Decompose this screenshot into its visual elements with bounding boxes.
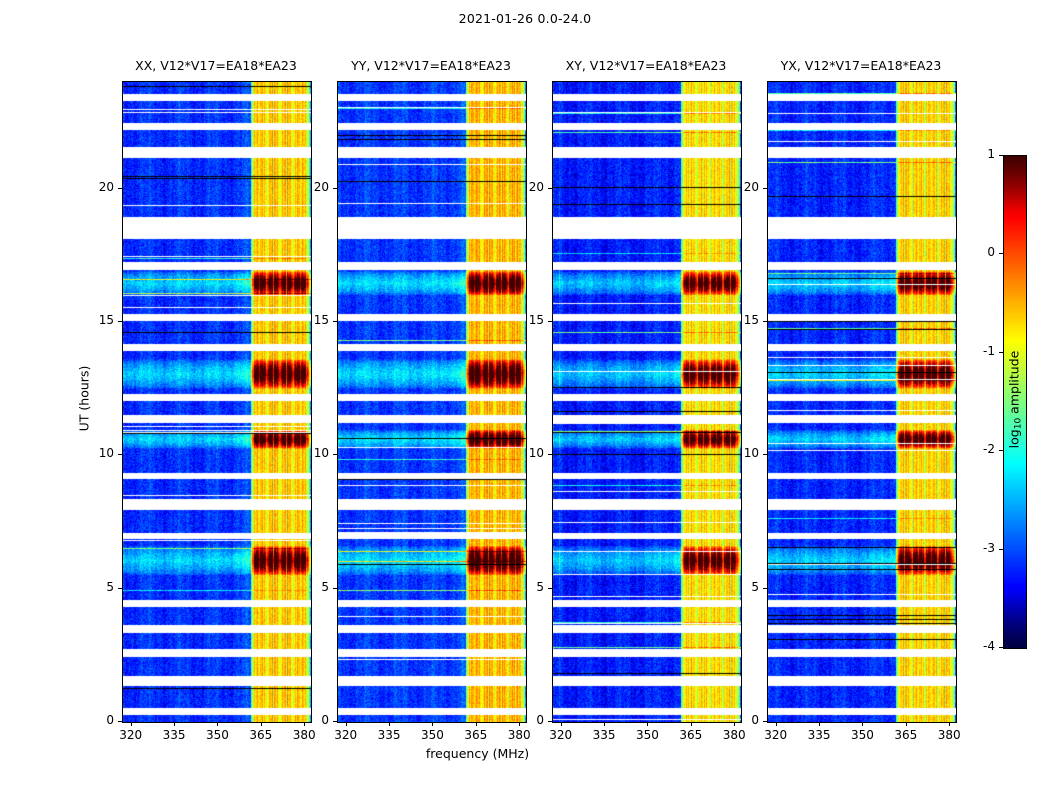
x-tickmark-xy-380 <box>734 722 735 726</box>
y-tick-label-xx-15: 15 <box>76 313 114 327</box>
y-tick-label-yx-5: 5 <box>721 580 759 594</box>
y-tickmark-xy-5 <box>548 588 552 589</box>
figure-canvas: 2021-01-26 0.0-24.0 XX, V12*V17=EA18*EA2… <box>0 0 1050 800</box>
x-tickmark-yx-380 <box>949 722 950 726</box>
y-tick-label-xy-10: 10 <box>506 446 544 460</box>
y-tick-label-yx-0: 0 <box>721 713 759 727</box>
y-tick-label-xy-20: 20 <box>506 180 544 194</box>
y-tick-label-yy-5: 5 <box>291 580 329 594</box>
x-tickmark-yy-380 <box>519 722 520 726</box>
y-tickmark-xx-5 <box>118 588 122 589</box>
y-tickmark-xy-20 <box>548 188 552 189</box>
x-tick-label-yy-380: 380 <box>497 728 541 742</box>
colorbar-tick-label-0: -4 <box>957 639 995 653</box>
colorbar-tickmark-3 <box>999 352 1003 353</box>
x-tick-label-xy-320: 320 <box>539 728 583 742</box>
y-tickmark-yx-5 <box>763 588 767 589</box>
x-tick-label-yx-380: 380 <box>927 728 971 742</box>
y-tickmark-yy-15 <box>333 321 337 322</box>
colorbar-tick-label-5: 1 <box>957 147 995 161</box>
x-tickmark-xx-380 <box>304 722 305 726</box>
x-tick-label-yx-365: 365 <box>884 728 928 742</box>
y-tick-label-xx-20: 20 <box>76 180 114 194</box>
y-tick-label-xx-10: 10 <box>76 446 114 460</box>
y-tickmark-xx-20 <box>118 188 122 189</box>
waterfall-image-yy <box>338 82 526 722</box>
y-axis-label: UT (hours) <box>77 349 92 449</box>
x-tick-label-xx-335: 335 <box>152 728 196 742</box>
y-tick-label-xy-5: 5 <box>506 580 544 594</box>
x-tickmark-xy-365 <box>691 722 692 726</box>
x-tick-label-xy-335: 335 <box>582 728 626 742</box>
x-tick-label-yy-365: 365 <box>454 728 498 742</box>
colorbar-tickmark-2 <box>999 450 1003 451</box>
x-tickmark-yy-350 <box>432 722 433 726</box>
y-tick-label-yx-15: 15 <box>721 313 759 327</box>
y-tickmark-xx-0 <box>118 721 122 722</box>
x-tickmark-xx-365 <box>261 722 262 726</box>
x-tickmark-xx-320 <box>131 722 132 726</box>
x-tickmark-yx-335 <box>819 722 820 726</box>
colorbar-tickmark-0 <box>999 647 1003 648</box>
y-tickmark-yx-15 <box>763 321 767 322</box>
waterfall-panel-yx[interactable] <box>767 81 957 723</box>
x-tick-label-yx-350: 350 <box>840 728 884 742</box>
y-tickmark-yx-10 <box>763 454 767 455</box>
x-tickmark-xy-350 <box>647 722 648 726</box>
waterfall-panel-yy[interactable] <box>337 81 527 723</box>
x-tickmark-yy-365 <box>476 722 477 726</box>
colorbar-tick-label-1: -3 <box>957 541 995 555</box>
y-tickmark-xy-15 <box>548 321 552 322</box>
x-tickmark-yx-365 <box>906 722 907 726</box>
x-tickmark-xy-335 <box>604 722 605 726</box>
x-axis-label: frequency (MHz) <box>0 746 955 761</box>
y-tickmark-yy-0 <box>333 721 337 722</box>
y-tickmark-xy-10 <box>548 454 552 455</box>
x-tick-label-yy-320: 320 <box>324 728 368 742</box>
waterfall-panel-xx[interactable] <box>122 81 312 723</box>
y-tick-label-yy-10: 10 <box>291 446 329 460</box>
panel-title-xy: XY, V12*V17=EA18*EA23 <box>552 58 740 73</box>
x-tick-label-xx-380: 380 <box>282 728 326 742</box>
y-tickmark-xy-0 <box>548 721 552 722</box>
x-tick-label-yx-320: 320 <box>754 728 798 742</box>
y-tick-label-yy-15: 15 <box>291 313 329 327</box>
panel-title-yy: YY, V12*V17=EA18*EA23 <box>337 58 525 73</box>
figure-suptitle: 2021-01-26 0.0-24.0 <box>0 11 1050 26</box>
colorbar-tickmark-4 <box>999 253 1003 254</box>
x-tick-label-xy-380: 380 <box>712 728 756 742</box>
x-tick-label-xy-350: 350 <box>625 728 669 742</box>
y-tickmark-yx-20 <box>763 188 767 189</box>
x-tickmark-yx-350 <box>862 722 863 726</box>
x-tickmark-xy-320 <box>561 722 562 726</box>
panel-title-xx: XX, V12*V17=EA18*EA23 <box>122 58 310 73</box>
y-tickmark-yy-10 <box>333 454 337 455</box>
y-tick-label-yy-0: 0 <box>291 713 329 727</box>
y-tick-label-yy-20: 20 <box>291 180 329 194</box>
colorbar-label: log10 amplitude <box>1007 339 1024 459</box>
x-tickmark-yy-320 <box>346 722 347 726</box>
x-tick-label-xx-365: 365 <box>239 728 283 742</box>
y-tick-label-yx-10: 10 <box>721 446 759 460</box>
x-tickmark-xx-350 <box>217 722 218 726</box>
y-tickmark-yy-20 <box>333 188 337 189</box>
waterfall-image-xx <box>123 82 311 722</box>
y-tick-label-xx-0: 0 <box>76 713 114 727</box>
panel-title-yx: YX, V12*V17=EA18*EA23 <box>767 58 955 73</box>
colorbar-tickmark-1 <box>999 549 1003 550</box>
y-tick-label-yx-20: 20 <box>721 180 759 194</box>
x-tick-label-yy-335: 335 <box>367 728 411 742</box>
x-tickmark-yx-320 <box>776 722 777 726</box>
y-tick-label-xy-0: 0 <box>506 713 544 727</box>
y-tickmark-xx-10 <box>118 454 122 455</box>
y-tick-label-xx-5: 5 <box>76 580 114 594</box>
colorbar-tick-label-4: 0 <box>957 245 995 259</box>
waterfall-image-yx <box>768 82 956 722</box>
x-tick-label-xx-350: 350 <box>195 728 239 742</box>
y-tickmark-yy-5 <box>333 588 337 589</box>
colorbar-tickmark-5 <box>999 155 1003 156</box>
waterfall-panel-xy[interactable] <box>552 81 742 723</box>
colorbar-tick-label-3: -1 <box>957 344 995 358</box>
x-tick-label-xy-365: 365 <box>669 728 713 742</box>
x-tickmark-yy-335 <box>389 722 390 726</box>
x-tick-label-xx-320: 320 <box>109 728 153 742</box>
y-tickmark-xx-15 <box>118 321 122 322</box>
waterfall-image-xy <box>553 82 741 722</box>
y-tick-label-xy-15: 15 <box>506 313 544 327</box>
colorbar-tick-label-2: -2 <box>957 442 995 456</box>
x-tick-label-yy-350: 350 <box>410 728 454 742</box>
x-tickmark-xx-335 <box>174 722 175 726</box>
y-tickmark-yx-0 <box>763 721 767 722</box>
x-tick-label-yx-335: 335 <box>797 728 841 742</box>
